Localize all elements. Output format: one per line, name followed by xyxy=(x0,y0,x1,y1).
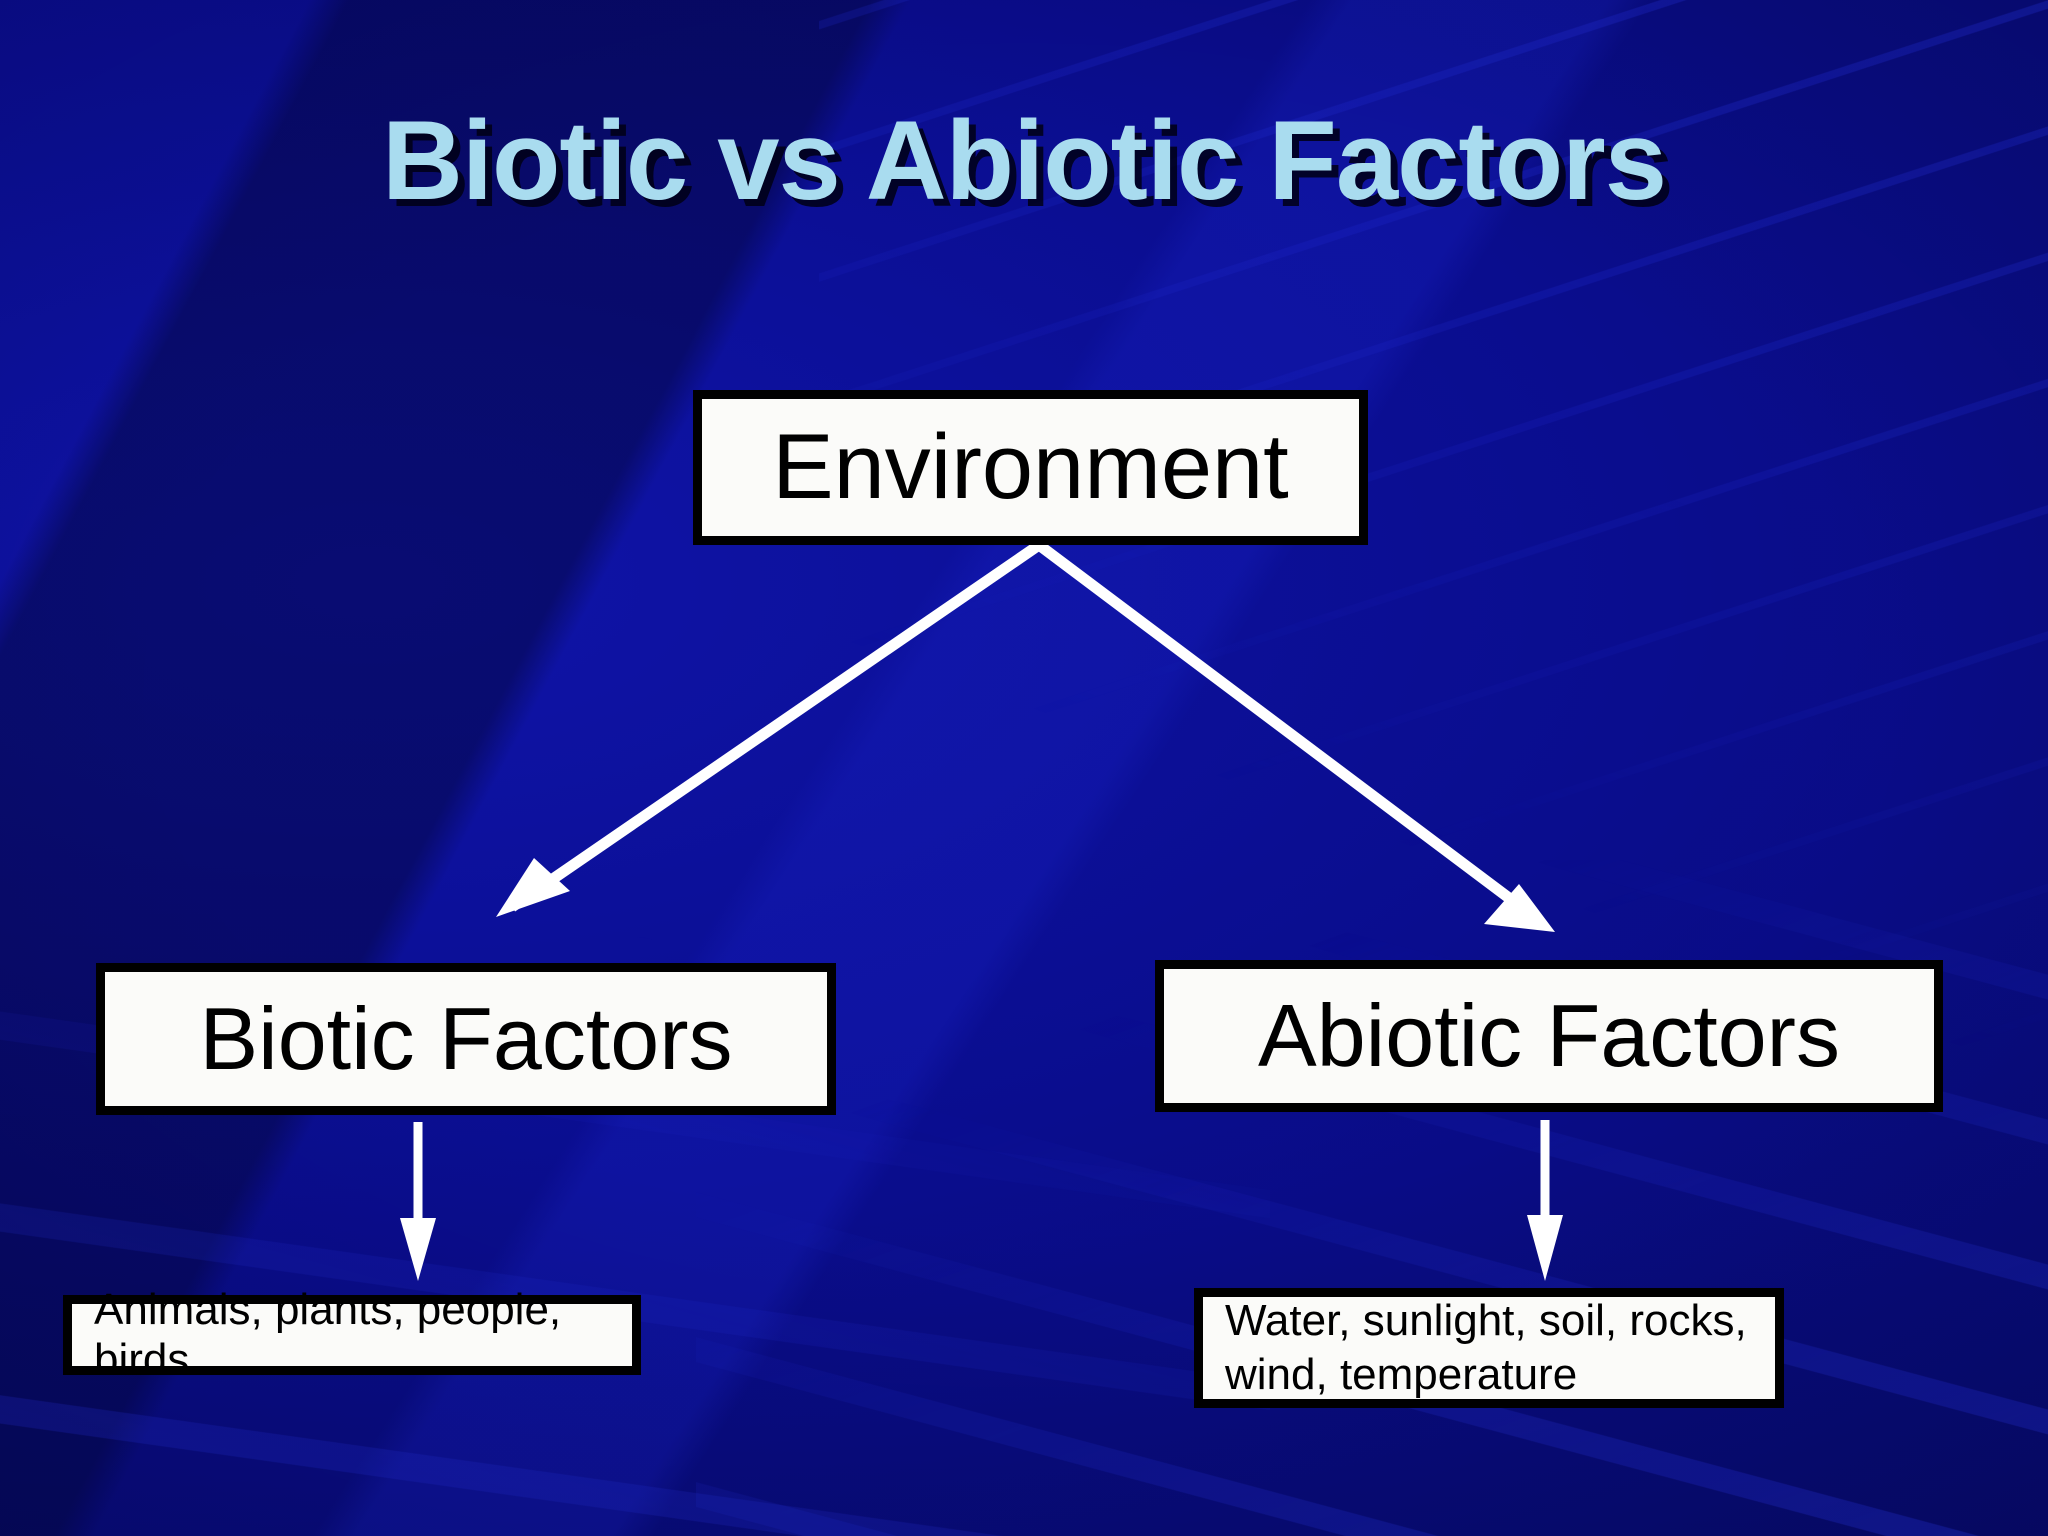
slide-title: Biotic vs Abiotic Factors xyxy=(0,96,2048,225)
node-environment-label: Environment xyxy=(772,415,1288,520)
slide-canvas: Biotic vs Abiotic Factors Environment Bi… xyxy=(0,0,2048,1536)
node-environment[interactable]: Environment xyxy=(693,390,1368,545)
node-abiotic-factors[interactable]: Abiotic Factors xyxy=(1155,960,1943,1112)
node-abiotic-examples-line-1: Water, sunlight, soil, rocks, xyxy=(1225,1294,1747,1348)
node-biotic-examples[interactable]: Animals, plants, people, birds xyxy=(63,1295,641,1375)
node-biotic-examples-label: Animals, plants, people, birds xyxy=(94,1285,632,1385)
node-biotic-factors-label: Biotic Factors xyxy=(199,988,732,1090)
node-abiotic-factors-label: Abiotic Factors xyxy=(1258,985,1840,1087)
node-abiotic-examples-line-2: wind, temperature xyxy=(1225,1348,1747,1402)
node-abiotic-examples[interactable]: Water, sunlight, soil, rocks, wind, temp… xyxy=(1194,1288,1784,1408)
node-abiotic-examples-text: Water, sunlight, soil, rocks, wind, temp… xyxy=(1225,1294,1747,1401)
node-biotic-factors[interactable]: Biotic Factors xyxy=(96,963,836,1115)
